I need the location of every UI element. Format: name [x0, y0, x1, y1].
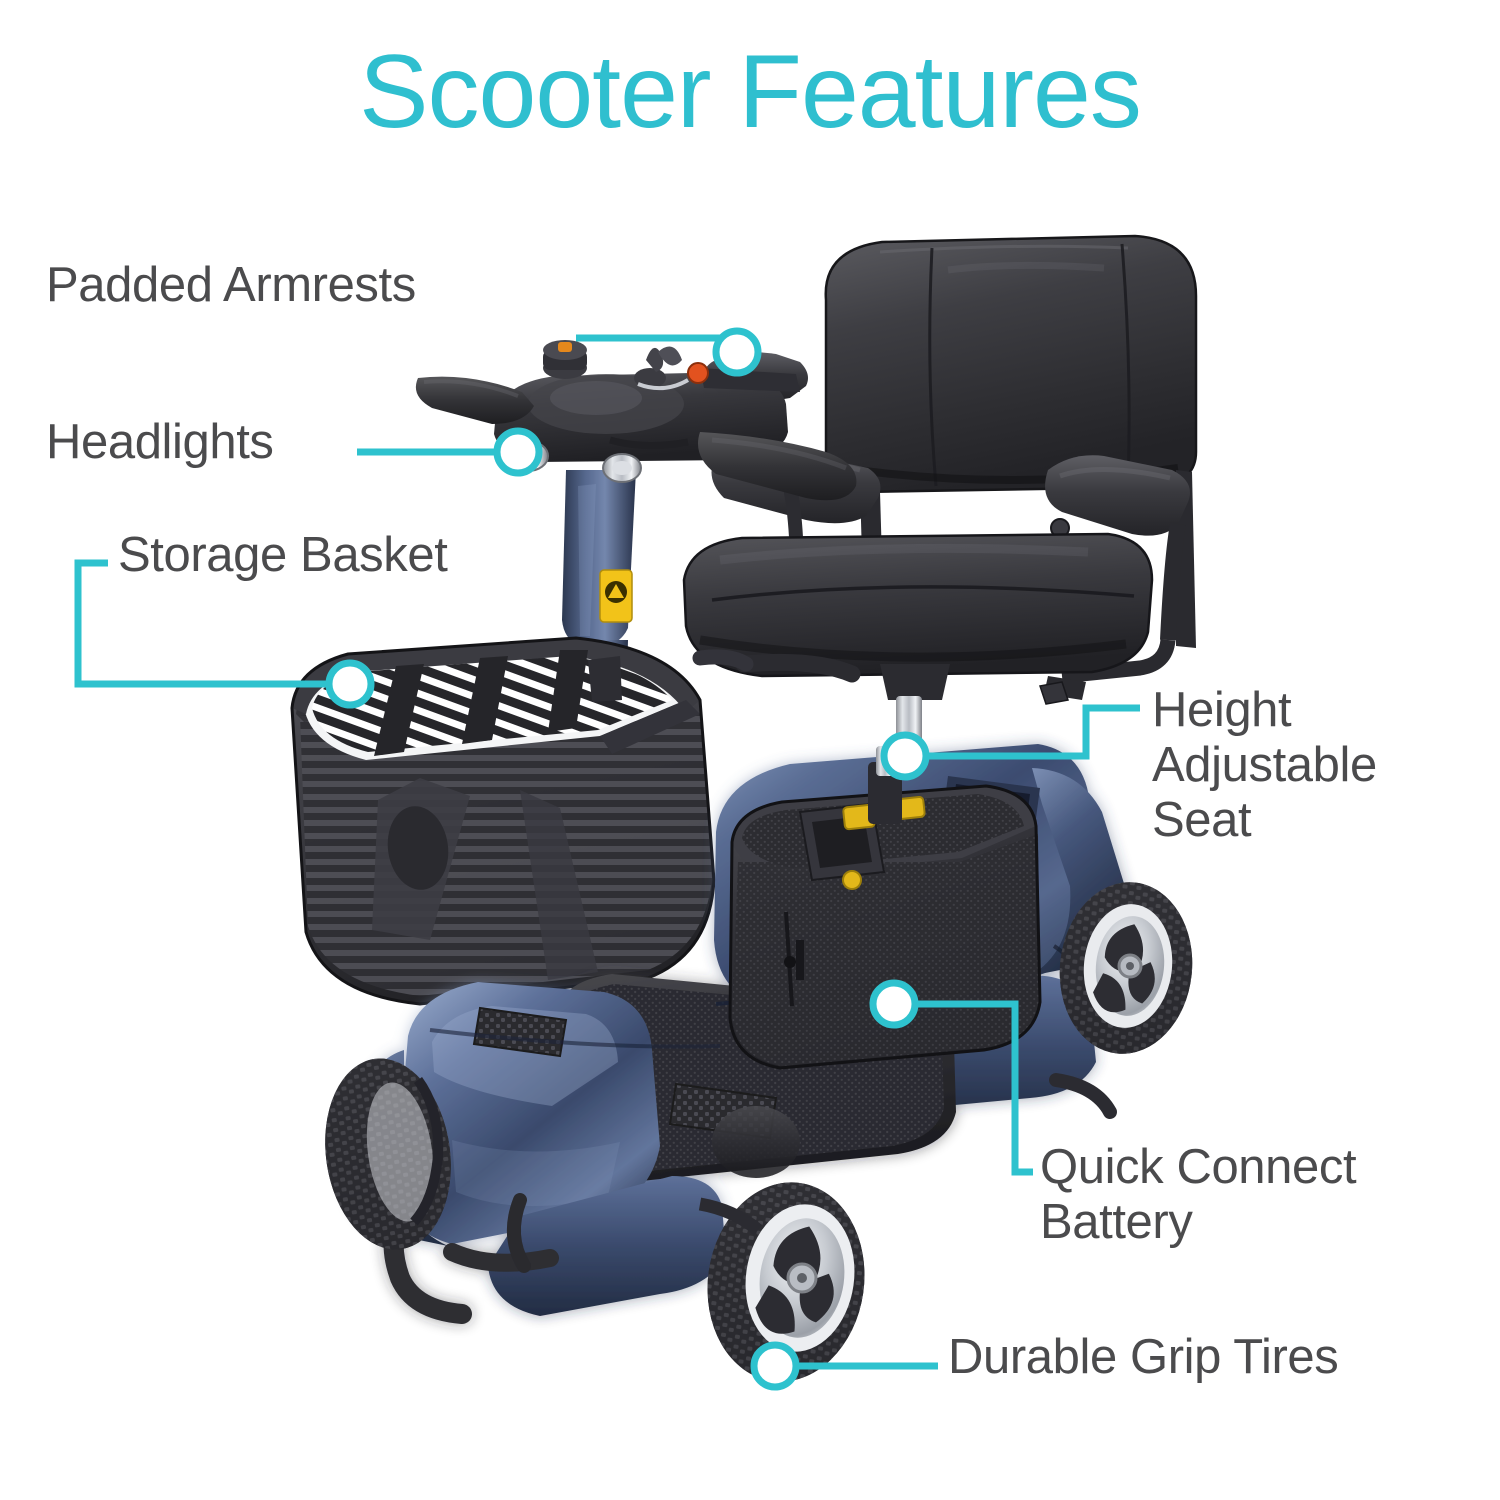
- label-line-1: Height: [1152, 683, 1291, 737]
- callout-label-quick-connect-battery: Quick ConnectBattery: [1040, 1140, 1480, 1250]
- callout-label-storage-basket: Storage Basket: [118, 528, 447, 583]
- marker-quick-connect-battery[interactable]: [873, 983, 915, 1025]
- callout-label-headlights: Headlights: [46, 415, 274, 470]
- leader-durable-grip-tires: [754, 1345, 938, 1387]
- marker-headlights[interactable]: [497, 431, 539, 473]
- infographic-canvas: Scooter Features: [0, 0, 1500, 1500]
- marker-durable-grip-tires[interactable]: [754, 1345, 796, 1387]
- callout-label-padded-armrests: Padded Armrests: [46, 258, 416, 313]
- label-line-2: Battery: [1040, 1195, 1192, 1249]
- callout-label-height-adjustable-seat: HeightAdjustableSeat: [1152, 683, 1472, 848]
- leader-padded-armrests: [576, 331, 758, 373]
- marker-storage-basket[interactable]: [329, 663, 371, 705]
- label-line-2: Adjustable: [1152, 738, 1377, 792]
- leader-quick-connect-battery: [873, 983, 1033, 1172]
- marker-padded-armrests[interactable]: [716, 331, 758, 373]
- marker-height-adjustable-seat[interactable]: [884, 735, 926, 777]
- label-line-1: Quick Connect: [1040, 1140, 1356, 1194]
- leader-height-adjustable-seat: [884, 708, 1140, 777]
- callout-label-durable-grip-tires: Durable Grip Tires: [948, 1330, 1338, 1385]
- label-line-3: Seat: [1152, 793, 1251, 847]
- leader-storage-basket: [78, 563, 371, 705]
- leader-headlights: [357, 431, 539, 473]
